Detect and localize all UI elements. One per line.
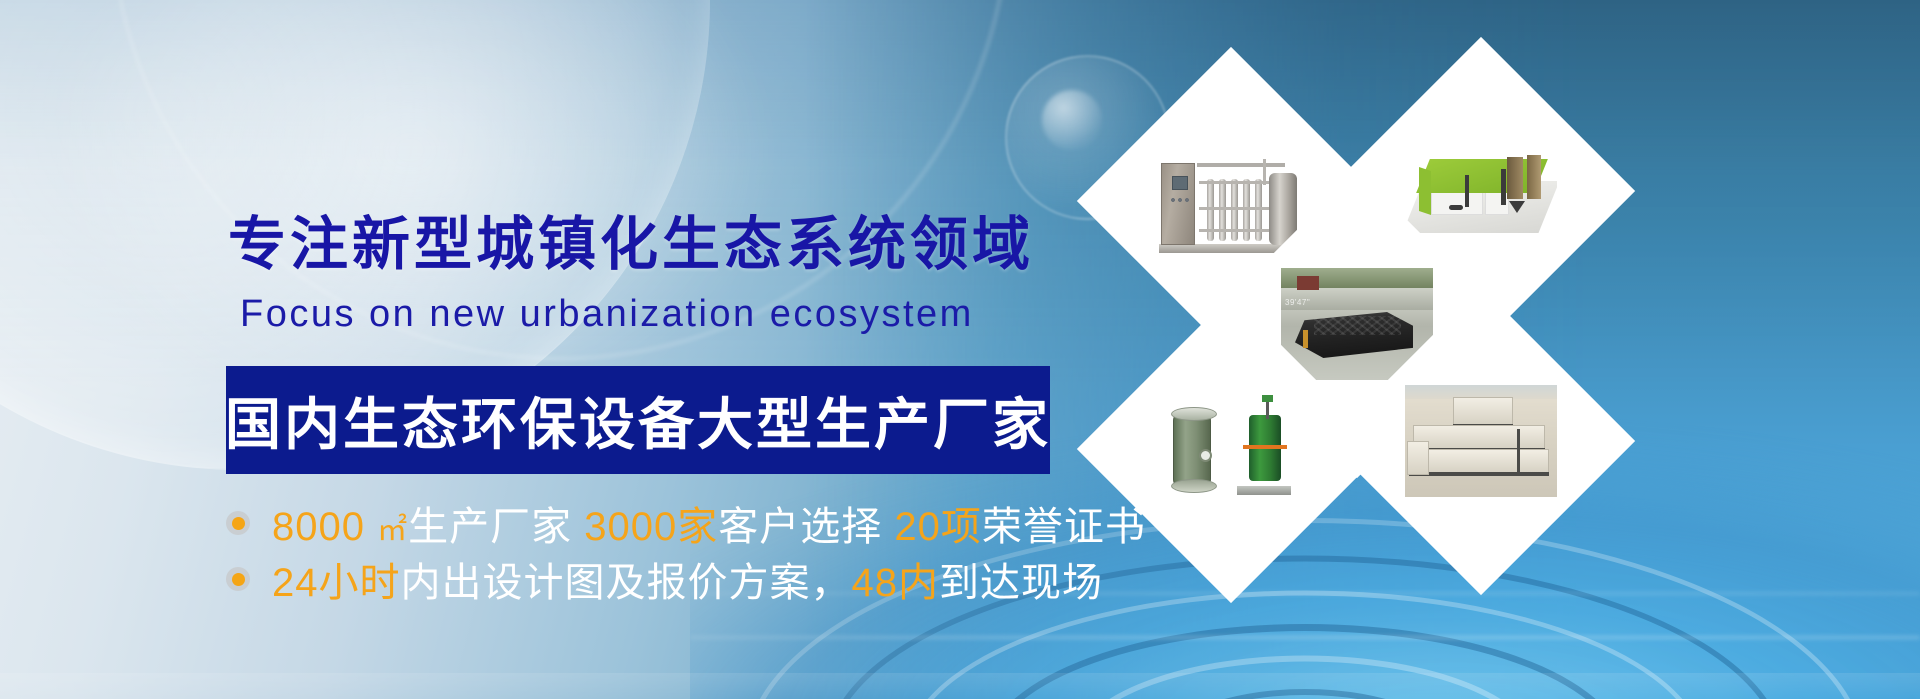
bullet-2-seg-0: 24小时 <box>272 561 401 605</box>
photo-stacked-precast-panels <box>1405 385 1557 497</box>
photo-sewage-treatment-plant-model <box>1405 135 1557 247</box>
orange-dot-bullet-icon <box>226 567 250 591</box>
bullet-1-seg-5: 20项 <box>894 505 982 549</box>
bullet-1-seg-3: 3000家 <box>584 505 718 549</box>
bullet-1-seg-1: ㎡ <box>377 514 408 547</box>
bottom-sheen <box>0 673 1920 699</box>
product-diamond-gallery: 39'47" <box>1110 50 1670 650</box>
feature-bullet-list: 8000 ㎡生产厂家 3000家客户选择 20项荣誉证书 24小时内出设计图及报… <box>226 495 1146 607</box>
bullet-2-seg-2: 48内 <box>852 561 940 605</box>
list-item: 24小时内出设计图及报价方案，48内到达现场 <box>226 551 1146 607</box>
promo-banner: 专注新型城镇化生态系统领域 Focus on new urbanization … <box>0 0 1920 699</box>
bullet-1-seg-2: 生产厂家 <box>408 505 584 549</box>
bullet-2-seg-3: 到达现场 <box>939 561 1103 605</box>
highlight-box: 国内生态环保设备大型生产厂家 <box>226 366 1050 474</box>
photo-frp-vessel-and-pump-station <box>1155 393 1307 505</box>
bullet-1-seg-0: 8000 <box>272 505 377 549</box>
bubble-tiny-decor <box>1042 90 1102 150</box>
orange-dot-bullet-icon <box>226 511 250 535</box>
photo-ro-water-treatment-skid <box>1155 145 1307 257</box>
bullet-1-seg-4: 客户选择 <box>718 505 894 549</box>
highlight-box-text: 国内生态环保设备大型生产厂家 <box>225 380 1051 461</box>
bullet-2-seg-1: 内出设计图及报价方案， <box>401 561 852 605</box>
banner-subheadline: Focus on new urbanization ecosystem <box>240 293 974 336</box>
bullet-text-1: 8000 ㎡生产厂家 3000家客户选择 20项荣誉证书 <box>272 494 1146 552</box>
banner-headline: 专注新型城镇化生态系统领域 <box>228 197 1034 281</box>
bullet-text-2: 24小时内出设计图及报价方案，48内到达现场 <box>272 550 1103 608</box>
list-item: 8000 ㎡生产厂家 3000家客户选择 20项荣誉证书 <box>226 495 1146 551</box>
